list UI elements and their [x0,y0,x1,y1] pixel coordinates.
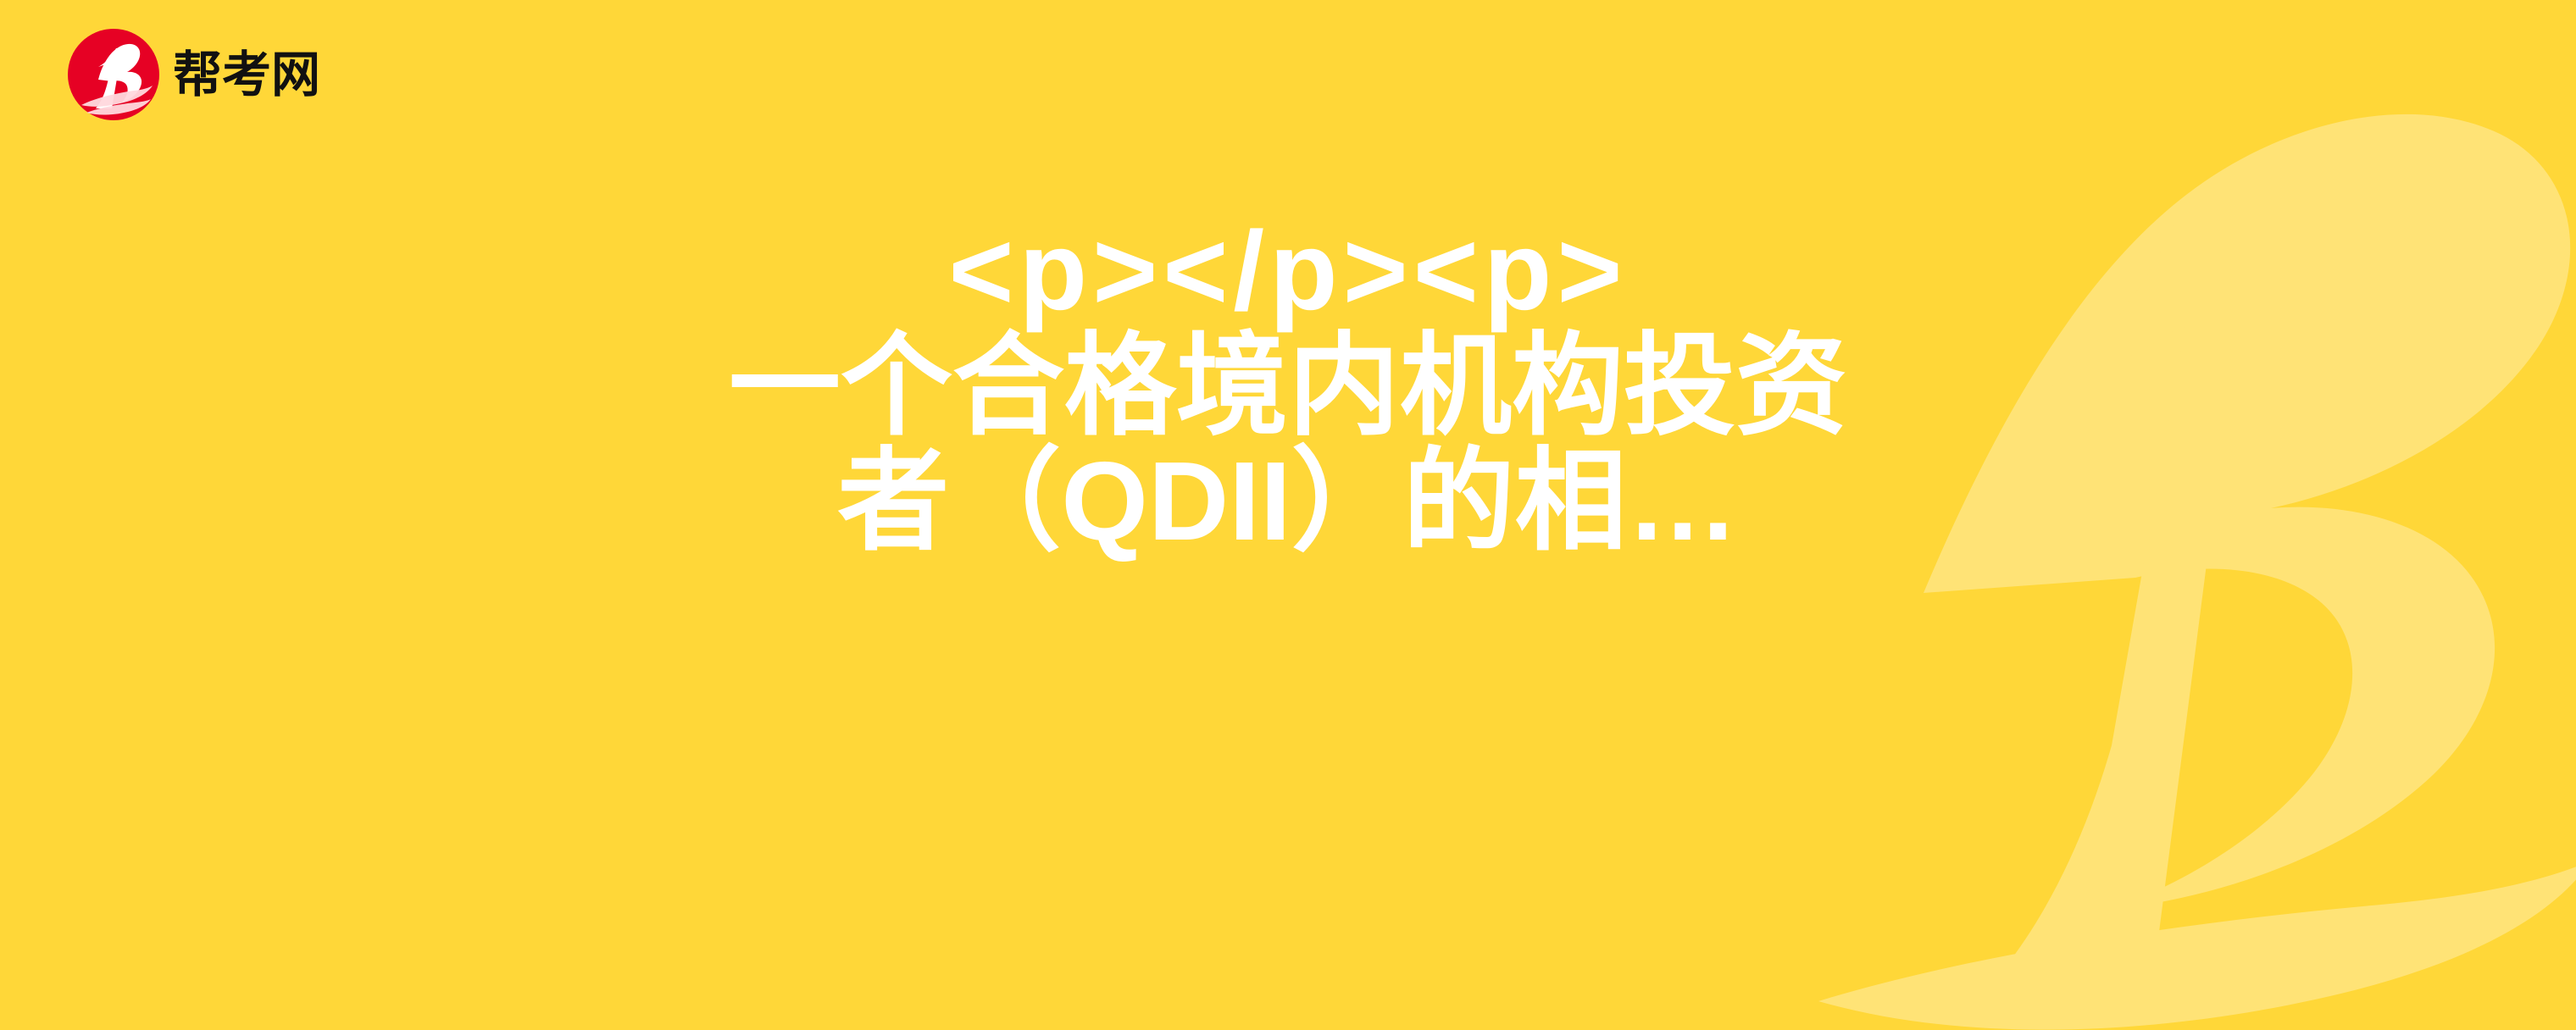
page-title: <p></p><p> 一个合格境内机构投资 者（QDII）的相… [0,213,2576,559]
page-title-line-1: <p></p><p> [153,213,2423,329]
page-root: 帮考网 <p></p><p> 一个合格境内机构投资 者（QDII）的相… [0,0,2576,1030]
bangkao-b-mark-icon [66,27,161,122]
site-logo[interactable]: 帮考网 [66,27,361,122]
logo-wordmark: 帮考网 [173,46,361,103]
page-title-line-2: 一个合格境内机构投资 [153,329,2423,444]
logo-wordmark-text: 帮考网 [173,46,320,103]
page-title-line-3: 者（QDII）的相… [153,444,2423,559]
